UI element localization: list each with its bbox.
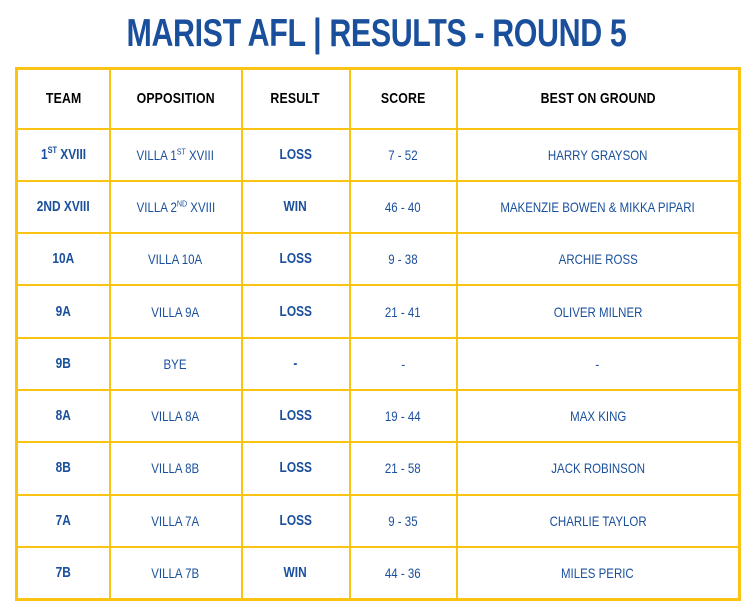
table-row: 2ND XVIIIVILLA 2ND XVIIIWIN46 - 40MAKENZ… (17, 181, 740, 233)
opposition-name: VILLA 9A (152, 304, 200, 320)
opposition-name: VILLA 2ND XVIII (136, 199, 215, 215)
column-header-opposition-label: OPPOSITION (136, 90, 214, 107)
cell-result: LOSS (242, 233, 350, 285)
opposition-name: VILLA 8B (152, 460, 200, 476)
cell-result: WIN (242, 547, 350, 599)
cell-result: - (242, 338, 350, 390)
cell-best-on-ground: CHARLIE TAYLOR (457, 495, 740, 547)
opposition-name: BYE (164, 356, 187, 372)
team-name: 1ST XVIII (41, 147, 86, 163)
best-on-ground-value: HARRY GRAYSON (548, 147, 648, 163)
cell-score: 46 - 40 (350, 181, 457, 233)
table-row: 9BBYE--- (17, 338, 740, 390)
cell-best-on-ground: MAKENZIE BOWEN & MIKKA PIPARI (457, 181, 740, 233)
result-value: WIN (284, 565, 307, 581)
cell-best-on-ground: ARCHIE ROSS (457, 233, 740, 285)
opposition-name: VILLA 1ST XVIII (137, 147, 214, 163)
cell-team: 9B (17, 338, 110, 390)
table-header-row: TEAM OPPOSITION RESULT SCORE BEST ON GRO… (17, 69, 740, 129)
best-on-ground-value: MILES PERIC (561, 565, 634, 581)
column-header-best-on-ground-label: BEST ON GROUND (540, 90, 655, 107)
team-name-ordinal-suffix: ST (47, 145, 56, 155)
score-value: 9 - 38 (388, 251, 417, 267)
cell-opposition: VILLA 8B (110, 442, 242, 494)
column-header-opposition: OPPOSITION (110, 69, 242, 129)
score-value: 19 - 44 (385, 408, 421, 424)
cell-result: LOSS (242, 495, 350, 547)
table-header: TEAM OPPOSITION RESULT SCORE BEST ON GRO… (17, 69, 740, 129)
result-value: LOSS (279, 147, 311, 163)
cell-score: 21 - 41 (350, 285, 457, 337)
cell-team: 7A (17, 495, 110, 547)
best-on-ground-value: ARCHIE ROSS (558, 251, 637, 267)
column-header-result-label: RESULT (271, 90, 320, 107)
best-on-ground-value: MAX KING (570, 408, 626, 424)
best-on-ground-value: JACK ROBINSON (551, 460, 645, 476)
opposition-name-ordinal-suffix: ND (176, 198, 186, 208)
table-row: 7BVILLA 7BWIN44 - 36MILES PERIC (17, 547, 740, 599)
cell-team: 1ST XVIII (17, 129, 110, 181)
team-name: 9A (56, 304, 71, 320)
cell-best-on-ground: MILES PERIC (457, 547, 740, 599)
cell-opposition: VILLA 9A (110, 285, 242, 337)
cell-team: 8A (17, 390, 110, 442)
opposition-name: VILLA 8A (152, 408, 200, 424)
score-value: 7 - 52 (388, 147, 417, 163)
cell-opposition: VILLA 1ST XVIII (110, 129, 242, 181)
team-name: 2ND XVIII (37, 199, 90, 215)
results-table: TEAM OPPOSITION RESULT SCORE BEST ON GRO… (15, 67, 741, 601)
team-name: 10A (52, 251, 74, 267)
table-row: 1ST XVIIIVILLA 1ST XVIIILOSS7 - 52HARRY … (17, 129, 740, 181)
cell-result: LOSS (242, 285, 350, 337)
cell-opposition: BYE (110, 338, 242, 390)
best-on-ground-value: - (596, 356, 600, 372)
best-on-ground-value: CHARLIE TAYLOR (549, 513, 646, 529)
result-value: WIN (284, 199, 307, 215)
result-value: LOSS (279, 251, 311, 267)
cell-result: LOSS (242, 442, 350, 494)
cell-score: 44 - 36 (350, 547, 457, 599)
score-value: 44 - 36 (385, 565, 421, 581)
score-value: 21 - 41 (385, 304, 421, 320)
cell-best-on-ground: HARRY GRAYSON (457, 129, 740, 181)
cell-best-on-ground: - (457, 338, 740, 390)
cell-team: 10A (17, 233, 110, 285)
column-header-team-label: TEAM (45, 90, 81, 107)
team-name: 7A (56, 513, 71, 529)
cell-team: 2ND XVIII (17, 181, 110, 233)
column-header-team: TEAM (17, 69, 110, 129)
cell-result: LOSS (242, 129, 350, 181)
cell-opposition: VILLA 8A (110, 390, 242, 442)
result-value: LOSS (279, 304, 311, 320)
score-value: 21 - 58 (385, 460, 421, 476)
cell-team: 7B (17, 547, 110, 599)
score-value: 46 - 40 (385, 199, 421, 215)
opposition-name: VILLA 7B (152, 565, 200, 581)
team-name: 7B (56, 565, 71, 581)
score-value: - (401, 356, 405, 372)
best-on-ground-value: MAKENZIE BOWEN & MIKKA PIPARI (501, 199, 695, 215)
page-title-bar: MARIST AFL | RESULTS - ROUND 5 (0, 8, 753, 60)
opposition-name: VILLA 10A (148, 251, 202, 267)
cell-score: 21 - 58 (350, 442, 457, 494)
result-value: LOSS (279, 460, 311, 476)
result-value: LOSS (279, 513, 311, 529)
cell-best-on-ground: OLIVER MILNER (457, 285, 740, 337)
cell-score: 19 - 44 (350, 390, 457, 442)
cell-team: 8B (17, 442, 110, 494)
column-header-score: SCORE (350, 69, 457, 129)
opposition-name-ordinal-suffix: ST (177, 146, 186, 156)
table-row: 8BVILLA 8BLOSS21 - 58JACK ROBINSON (17, 442, 740, 494)
table-row: 7AVILLA 7ALOSS9 - 35CHARLIE TAYLOR (17, 495, 740, 547)
column-header-result: RESULT (242, 69, 350, 129)
cell-score: 7 - 52 (350, 129, 457, 181)
table-row: 10AVILLA 10ALOSS9 - 38ARCHIE ROSS (17, 233, 740, 285)
team-name: 8A (56, 408, 71, 424)
column-header-best-on-ground: BEST ON GROUND (457, 69, 740, 129)
cell-score: 9 - 38 (350, 233, 457, 285)
results-table-container: TEAM OPPOSITION RESULT SCORE BEST ON GRO… (15, 67, 738, 598)
cell-team: 9A (17, 285, 110, 337)
table-row: 8AVILLA 8ALOSS19 - 44MAX KING (17, 390, 740, 442)
table-row: 9AVILLA 9ALOSS21 - 41OLIVER MILNER (17, 285, 740, 337)
team-name: 9B (56, 356, 71, 372)
opposition-name: VILLA 7A (152, 513, 200, 529)
best-on-ground-value: OLIVER MILNER (553, 304, 642, 320)
column-header-score-label: SCORE (381, 90, 426, 107)
result-value: LOSS (279, 408, 311, 424)
results-page: MARIST AFL | RESULTS - ROUND 5 TEAM OPPO… (0, 0, 753, 615)
page-title: MARIST AFL | RESULTS - ROUND 5 (127, 12, 627, 56)
cell-best-on-ground: JACK ROBINSON (457, 442, 740, 494)
cell-opposition: VILLA 10A (110, 233, 242, 285)
cell-opposition: VILLA 7B (110, 547, 242, 599)
cell-best-on-ground: MAX KING (457, 390, 740, 442)
cell-opposition: VILLA 2ND XVIII (110, 181, 242, 233)
cell-result: WIN (242, 181, 350, 233)
cell-result: LOSS (242, 390, 350, 442)
cell-opposition: VILLA 7A (110, 495, 242, 547)
table-body: 1ST XVIIIVILLA 1ST XVIIILOSS7 - 52HARRY … (17, 129, 740, 600)
cell-score: - (350, 338, 457, 390)
team-name: 8B (56, 460, 71, 476)
cell-score: 9 - 35 (350, 495, 457, 547)
score-value: 9 - 35 (388, 513, 417, 529)
result-value: - (294, 356, 298, 372)
